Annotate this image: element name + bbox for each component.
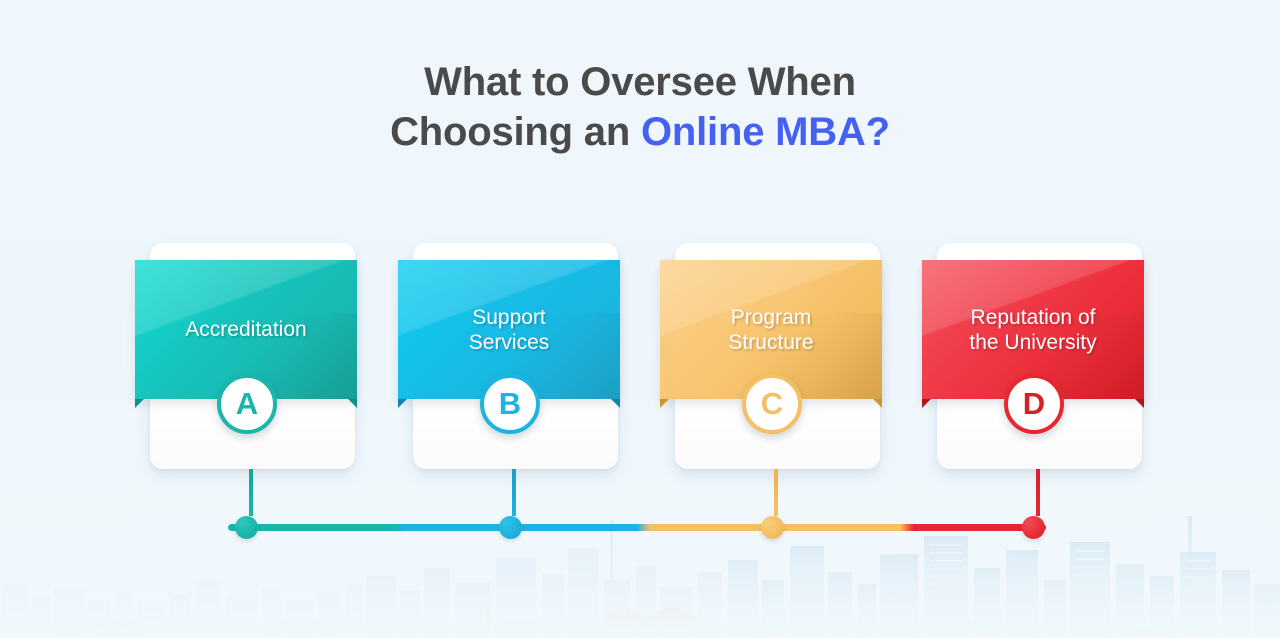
card-badge-letter: B bbox=[480, 374, 540, 434]
banner-fold-left-icon bbox=[398, 399, 407, 408]
banner-fold-left-icon bbox=[922, 399, 931, 408]
card-label-line-1: Program bbox=[731, 306, 812, 329]
card-accreditation[interactable]: Accreditation A bbox=[135, 243, 348, 475]
title-line-2-prefix: Choosing an bbox=[390, 110, 641, 154]
timeline-dot-b[interactable] bbox=[499, 516, 522, 539]
card-badge-letter: A bbox=[217, 374, 277, 434]
card-label-line-2: Structure bbox=[728, 331, 813, 354]
card-reputation-of-the-university[interactable]: Reputation of the University D bbox=[922, 243, 1135, 475]
timeline-dot-c[interactable] bbox=[761, 516, 784, 539]
card-label-line-2: Services bbox=[469, 331, 550, 354]
timeline-segment-c-d bbox=[772, 524, 1034, 531]
page-title: What to Oversee When Choosing an Online … bbox=[0, 57, 1280, 157]
timeline-dot-a[interactable] bbox=[235, 516, 258, 539]
title-line-1: What to Oversee When bbox=[0, 57, 1280, 107]
banner-fold-left-icon bbox=[660, 399, 669, 408]
city-skyline-watermark bbox=[0, 488, 1280, 638]
card-support-services[interactable]: Support Services B bbox=[398, 243, 611, 475]
card-label-line-2: the University bbox=[969, 331, 1096, 354]
timeline-segment-a-b bbox=[246, 524, 512, 531]
card-connector-stem bbox=[1036, 469, 1040, 516]
timeline bbox=[0, 520, 1280, 550]
badge-letter: D bbox=[1023, 386, 1045, 422]
badge-letter: C bbox=[761, 386, 783, 422]
card-label-line-1: Reputation of bbox=[971, 306, 1096, 329]
title-line-2: Choosing an Online MBA? bbox=[0, 107, 1280, 157]
card-badge-letter: D bbox=[1004, 374, 1064, 434]
card-connector-stem bbox=[512, 469, 516, 516]
card-program-structure[interactable]: Program Structure C bbox=[660, 243, 873, 475]
timeline-dot-d[interactable] bbox=[1022, 516, 1045, 539]
banner-fold-left-icon bbox=[135, 399, 144, 408]
card-connector-stem bbox=[774, 469, 778, 516]
title-accent-online-mba: Online MBA? bbox=[641, 110, 890, 154]
cards-row: Accreditation A Support Services B bbox=[0, 243, 1280, 483]
card-badge-letter: C bbox=[742, 374, 802, 434]
card-connector-stem bbox=[249, 469, 253, 516]
badge-letter: A bbox=[236, 386, 258, 422]
badge-letter: B bbox=[499, 386, 521, 422]
timeline-segment-b-c bbox=[510, 524, 774, 531]
card-label-line-1: Support bbox=[472, 306, 546, 329]
